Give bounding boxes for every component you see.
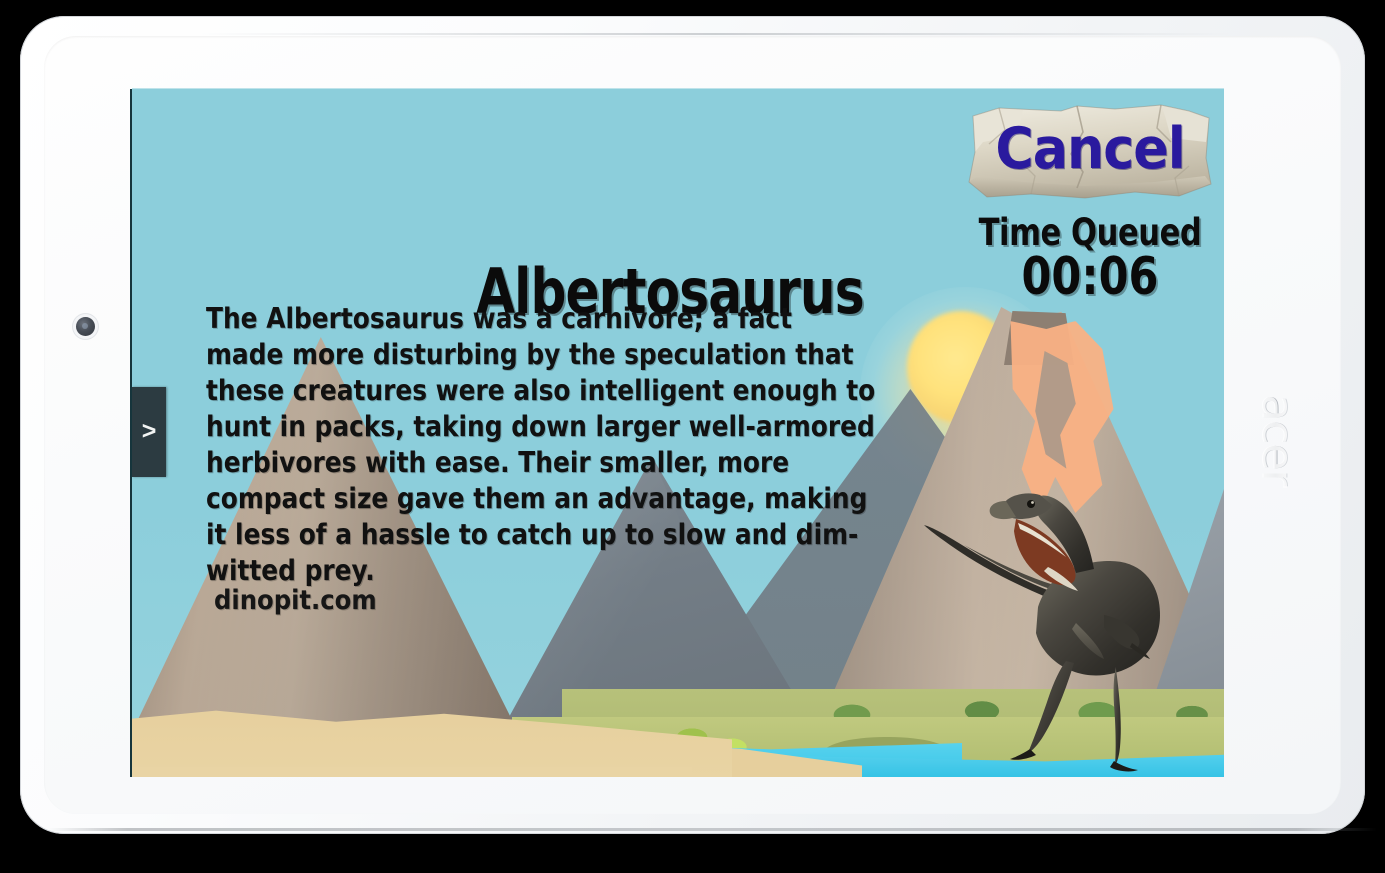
- tablet-top-seam: [200, 33, 1230, 35]
- time-queued-value: 00:06: [975, 247, 1205, 307]
- sand-foreground: [132, 767, 692, 777]
- sidebar-expand-tab[interactable]: >: [132, 387, 166, 477]
- tablet-screen: Albertosaurus The Albertosaurus was a ca…: [132, 89, 1224, 777]
- camera-lens-highlight: [82, 323, 88, 329]
- cancel-button[interactable]: Cancel: [965, 102, 1215, 202]
- front-camera-icon: [76, 317, 95, 336]
- site-watermark: dinopit.com: [214, 585, 377, 616]
- tablet-bottom-seam: [48, 828, 1377, 831]
- acer-brand-logo: acer: [1255, 360, 1301, 520]
- chevron-right-icon: >: [142, 419, 157, 444]
- albertosaurus-illustration: [898, 457, 1210, 777]
- screenshot-root: acer: [0, 0, 1385, 873]
- acer-logo-text: acer: [1253, 394, 1304, 486]
- description-text: The Albertosaurus was a carnivore; a fac…: [206, 301, 875, 589]
- cancel-button-label: Cancel: [963, 99, 1218, 199]
